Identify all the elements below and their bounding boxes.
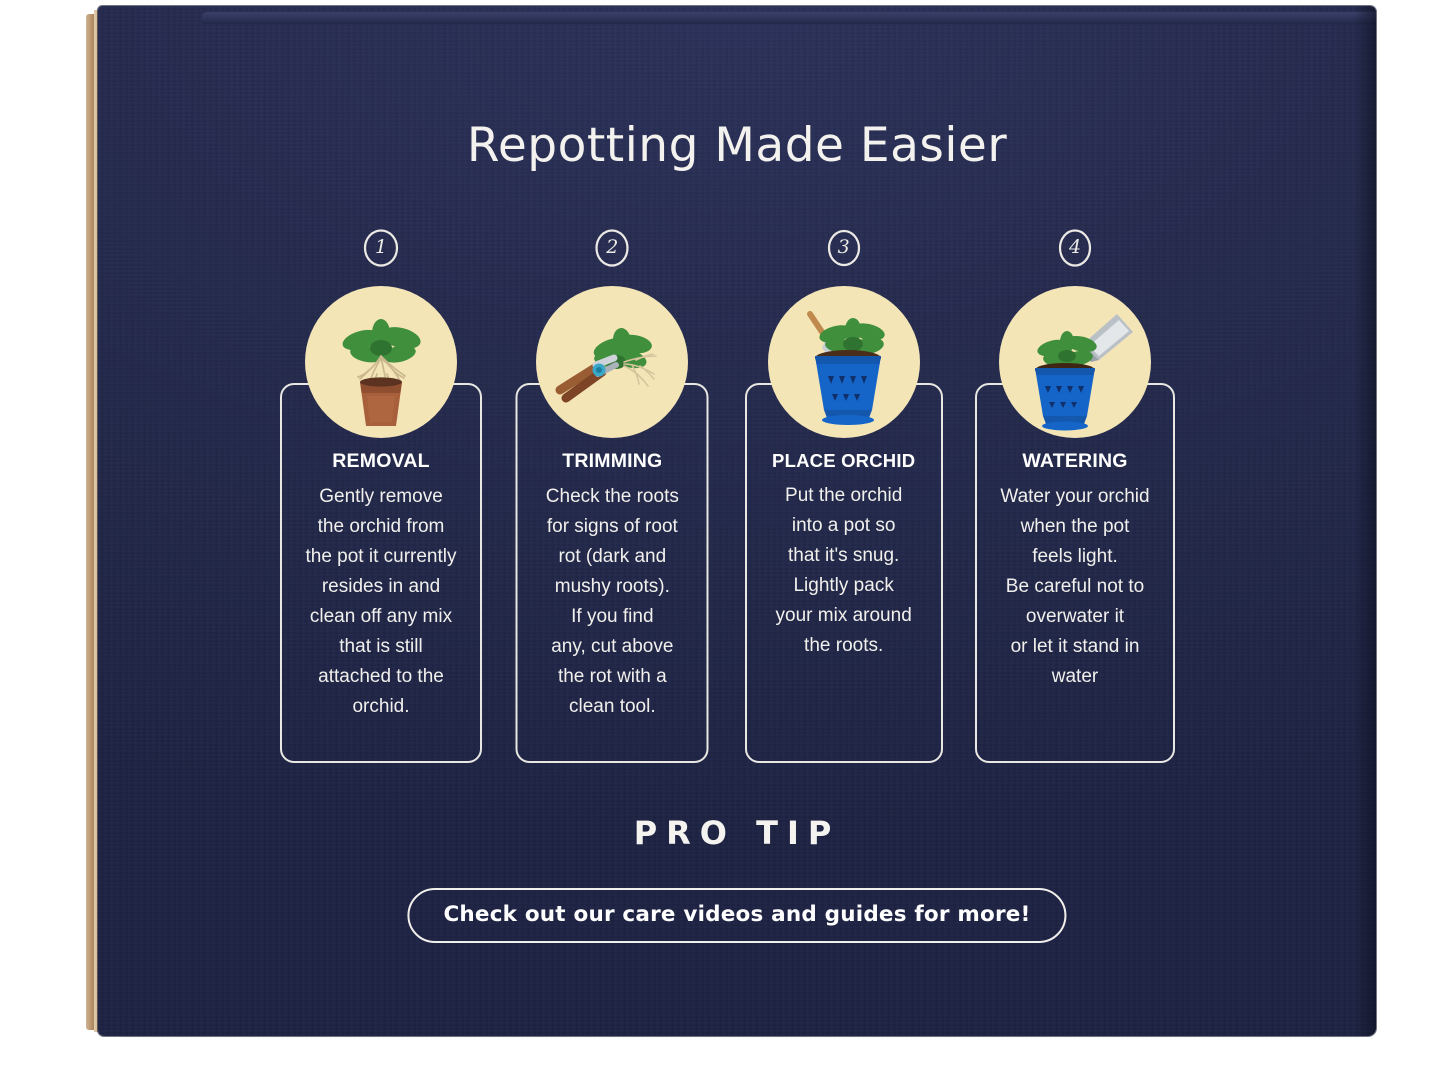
box-back-panel: Repotting Made Easier 1 [98, 6, 1376, 1036]
step-heading-4: WATERING [977, 450, 1173, 473]
step-text-3: Put the orchid into a pot so that it's s… [746, 481, 942, 661]
step-icon-circle-3 [768, 286, 920, 438]
step-heading-2: TRIMMING [514, 450, 710, 473]
step-number-badge-2: 2 [593, 228, 631, 268]
step-number-badge-3: 3 [825, 228, 863, 268]
step-heading-1: REMOVAL [283, 450, 479, 473]
step-text-1: Gently remove the orchid from the pot it… [283, 482, 479, 722]
step-trimming: 2 [509, 228, 715, 773]
product-box-photo: Repotting Made Easier 1 [0, 0, 1445, 1075]
pruning-shears-cutting-roots-icon [536, 286, 688, 438]
orchid-bare-root-with-terracotta-pot-icon [305, 286, 457, 438]
step-number-2: 2 [606, 236, 618, 258]
step-card-body-1: REMOVAL Gently remove the orchid from th… [283, 450, 479, 722]
step-number-badge-1: 1 [362, 228, 400, 268]
step-number-1: 1 [375, 236, 387, 258]
step-text-4: Water your orchid when the pot feels lig… [977, 482, 1173, 692]
care-videos-cta[interactable]: Check out our care videos and guides for… [407, 888, 1066, 943]
step-number-3: 3 [838, 236, 850, 258]
page-title: Repotting Made Easier [98, 118, 1376, 173]
orchid-in-blue-pot-with-trowel-icon [768, 286, 920, 438]
step-icon-circle-4 [999, 286, 1151, 438]
pro-tip-label: PRO TIP [98, 814, 1376, 852]
panel-content: Repotting Made Easier 1 [98, 6, 1376, 1036]
step-removal: 1 [278, 228, 484, 773]
step-number-4: 4 [1069, 236, 1081, 258]
step-card-body-4: WATERING Water your orchid when the pot … [977, 450, 1173, 692]
watering-can-over-orchid-pot-icon [999, 286, 1151, 438]
step-icon-circle-2 [536, 286, 688, 438]
step-text-2: Check the roots for signs of root rot (d… [514, 482, 710, 722]
step-place-orchid: 3 [741, 228, 947, 773]
step-watering: 4 [972, 228, 1178, 773]
step-heading-3: PLACE ORCHID [746, 450, 942, 472]
step-number-badge-4: 4 [1056, 228, 1094, 268]
step-card-body-3: PLACE ORCHID Put the orchid into a pot s… [746, 450, 942, 661]
step-card-body-2: TRIMMING Check the roots for signs of ro… [514, 450, 710, 722]
steps-row: 1 [278, 228, 1178, 773]
step-icon-circle-1 [305, 286, 457, 438]
